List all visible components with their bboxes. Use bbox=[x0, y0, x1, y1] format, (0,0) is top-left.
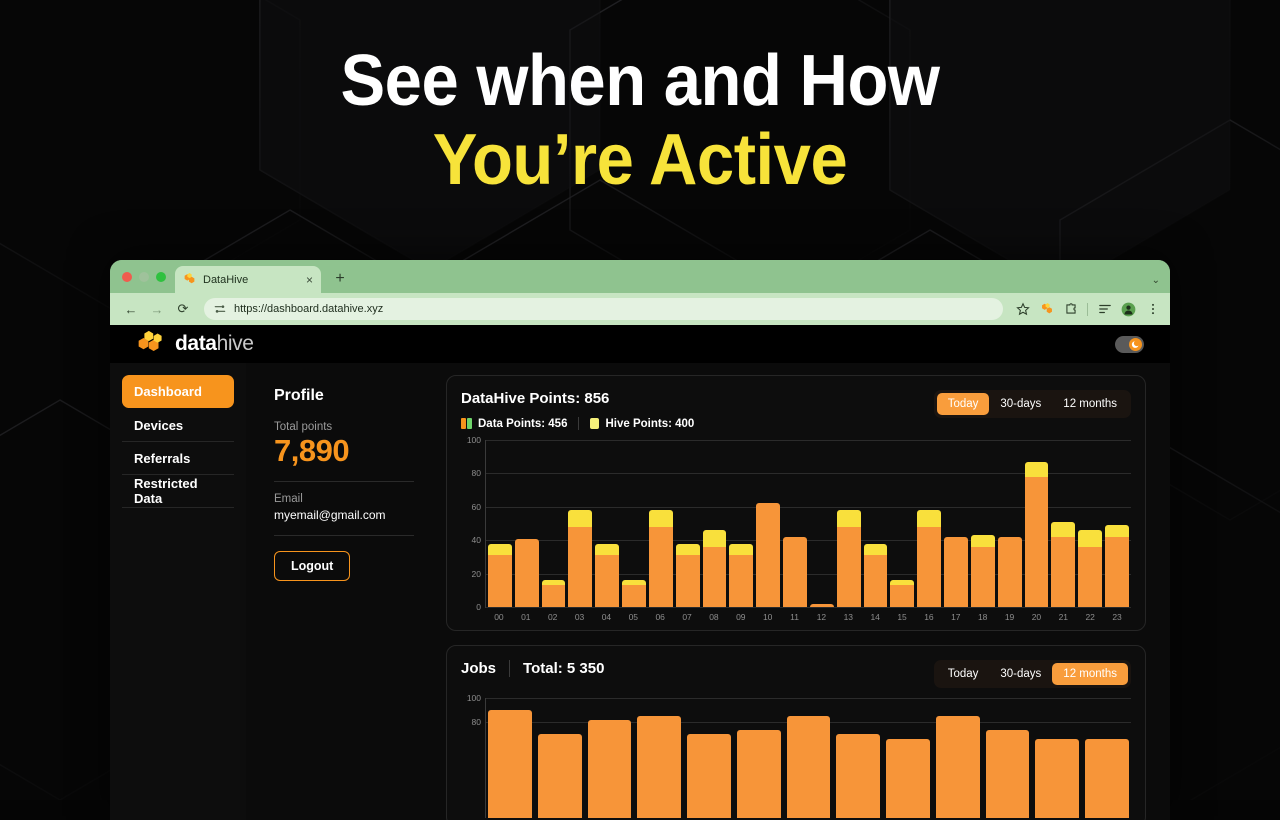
x-axis-tick: 03 bbox=[568, 612, 592, 622]
chart-bar[interactable] bbox=[538, 734, 582, 818]
site-settings-icon[interactable] bbox=[213, 302, 227, 316]
y-axis-tick: 0 bbox=[476, 602, 481, 612]
sidebar-item-dashboard[interactable]: Dashboard bbox=[122, 375, 234, 408]
chart-bar[interactable] bbox=[737, 730, 781, 818]
y-axis-tick: 20 bbox=[472, 569, 481, 579]
chart-bar[interactable] bbox=[488, 544, 512, 607]
x-axis-tick: 06 bbox=[648, 612, 672, 622]
jobs-range-selector: Today 30-days 12 months bbox=[934, 660, 1131, 688]
bar-segment-bottom bbox=[1105, 537, 1129, 607]
bar-segment-bottom bbox=[729, 555, 753, 607]
bar-fill bbox=[737, 730, 781, 818]
sidebar-item-devices[interactable]: Devices bbox=[122, 409, 234, 442]
theme-toggle[interactable] bbox=[1115, 336, 1144, 353]
legend-label: Data Points: 456 bbox=[478, 418, 567, 430]
x-axis-tick: 11 bbox=[783, 612, 807, 622]
bar-segment-top bbox=[864, 544, 888, 556]
brand-wordmark: datahive bbox=[175, 332, 254, 356]
sidebar: Dashboard Devices Referrals Restricted D… bbox=[110, 363, 246, 820]
bar-segment-top bbox=[729, 544, 753, 556]
jobs-range-30-days[interactable]: 30-days bbox=[989, 663, 1052, 685]
jobs-card-title: Jobs bbox=[461, 660, 496, 677]
chart-bar[interactable] bbox=[676, 544, 700, 607]
chart-bar[interactable] bbox=[703, 530, 727, 607]
x-axis-tick: 19 bbox=[998, 612, 1022, 622]
chart-bar[interactable] bbox=[1078, 530, 1102, 607]
jobs-range-today[interactable]: Today bbox=[937, 663, 990, 685]
sidebar-item-label: Devices bbox=[134, 418, 183, 433]
sidebar-item-referrals[interactable]: Referrals bbox=[122, 442, 234, 475]
legend-swatch-data-points-icon bbox=[461, 418, 472, 429]
bar-segment-top bbox=[703, 530, 727, 547]
y-axis-tick: 100 bbox=[467, 693, 481, 703]
bar-segment-top bbox=[676, 544, 700, 556]
bar-segment-top bbox=[971, 535, 995, 547]
bar-segment-bottom bbox=[703, 547, 727, 607]
bar-fill bbox=[687, 734, 731, 818]
brand-logo[interactable]: datahive bbox=[136, 328, 254, 360]
x-axis-tick: 15 bbox=[890, 612, 914, 622]
x-axis-tick: 08 bbox=[702, 612, 726, 622]
bar-segment-bottom bbox=[1078, 547, 1102, 607]
points-range-12-months[interactable]: 12 months bbox=[1052, 393, 1128, 415]
points-chart-legend: Data Points: 456 Hive Points: 400 bbox=[461, 417, 694, 430]
bar-fill bbox=[836, 734, 880, 818]
chart-bar[interactable] bbox=[837, 510, 861, 607]
window-traffic-lights bbox=[120, 272, 175, 293]
chart-bar[interactable] bbox=[971, 535, 995, 607]
close-tab-button[interactable]: × bbox=[306, 274, 313, 286]
bar-fill bbox=[588, 720, 632, 818]
profile-panel: Profile Total points 7,890 Email myemail… bbox=[246, 363, 436, 820]
bar-segment-bottom bbox=[515, 539, 539, 607]
bar-segment-bottom bbox=[917, 527, 941, 607]
legend-label: Hive Points: 400 bbox=[605, 418, 694, 430]
address-bar-url: https://dashboard.datahive.xyz bbox=[234, 303, 383, 315]
bar-fill bbox=[1035, 739, 1079, 818]
bar-fill bbox=[538, 734, 582, 818]
x-axis-tick: 13 bbox=[836, 612, 860, 622]
points-chart-plot bbox=[485, 440, 1131, 607]
chart-bar[interactable] bbox=[637, 716, 681, 818]
bar-segment-bottom bbox=[971, 547, 995, 607]
browser-tab-title: DataHive bbox=[203, 274, 299, 286]
main-content: Profile Total points 7,890 Email myemail… bbox=[246, 363, 1170, 820]
x-axis-tick: 07 bbox=[675, 612, 699, 622]
bar-fill bbox=[637, 716, 681, 818]
sidebar-item-label: Restricted Data bbox=[134, 476, 222, 506]
total-points-value: 7,890 bbox=[274, 434, 414, 468]
bar-group bbox=[486, 440, 1131, 607]
bar-segment-bottom bbox=[1025, 477, 1049, 607]
chart-bar[interactable] bbox=[488, 710, 532, 818]
bar-segment-bottom bbox=[864, 555, 888, 607]
bar-segment-bottom bbox=[890, 585, 914, 607]
points-chart: 020406080100 bbox=[461, 440, 1131, 607]
theme-toggle-knob bbox=[1129, 338, 1142, 351]
bar-segment-top bbox=[1078, 530, 1102, 547]
bar-segment-bottom bbox=[622, 585, 646, 607]
chart-bar[interactable] bbox=[588, 720, 632, 818]
x-axis-tick: 18 bbox=[971, 612, 995, 622]
chart-bar[interactable] bbox=[1025, 462, 1049, 607]
chart-bar[interactable] bbox=[515, 539, 539, 607]
bar-segment-top bbox=[1025, 462, 1049, 477]
legend-swatch-hive-points-icon bbox=[590, 418, 599, 429]
x-axis-tick: 20 bbox=[1025, 612, 1049, 622]
points-range-today[interactable]: Today bbox=[937, 393, 990, 415]
jobs-title-divider bbox=[509, 660, 510, 677]
points-chart-y-axis: 020406080100 bbox=[461, 440, 485, 607]
jobs-chart: 80100 bbox=[461, 698, 1131, 818]
chart-bar[interactable] bbox=[986, 730, 1030, 818]
chart-bar[interactable] bbox=[998, 537, 1022, 607]
points-card-header: DataHive Points: 856 Data Points: 456 bbox=[461, 390, 1131, 430]
x-axis-tick: 22 bbox=[1078, 612, 1102, 622]
chart-bar[interactable] bbox=[649, 510, 673, 607]
chart-bar[interactable] bbox=[568, 510, 592, 607]
bar-segment-bottom bbox=[998, 537, 1022, 607]
chart-bar[interactable] bbox=[595, 544, 619, 607]
jobs-range-12-months[interactable]: 12 months bbox=[1052, 663, 1128, 685]
x-axis-tick: 14 bbox=[863, 612, 887, 622]
jobs-chart-plot bbox=[485, 698, 1131, 818]
chart-bar[interactable] bbox=[687, 734, 731, 818]
y-axis-tick: 40 bbox=[472, 535, 481, 545]
x-axis-tick: 23 bbox=[1105, 612, 1129, 622]
chart-bar[interactable] bbox=[622, 580, 646, 607]
datahive-app: datahive Dashboard Devices Referrals bbox=[110, 325, 1170, 820]
legend-divider bbox=[578, 417, 579, 430]
minimize-window-button[interactable] bbox=[139, 272, 149, 282]
bar-fill bbox=[986, 730, 1030, 818]
x-axis-tick: 21 bbox=[1051, 612, 1075, 622]
maximize-window-button[interactable] bbox=[156, 272, 166, 282]
chart-bar[interactable] bbox=[864, 544, 888, 607]
x-axis-tick: 05 bbox=[621, 612, 645, 622]
bar-segment-top bbox=[1105, 525, 1129, 537]
chart-bar[interactable] bbox=[756, 503, 780, 607]
datahive-extension-icon[interactable] bbox=[1039, 302, 1054, 317]
browser-tab-bar: DataHive × + ⌄ bbox=[110, 260, 1170, 293]
chart-bar[interactable] bbox=[944, 537, 968, 607]
x-axis-tick: 00 bbox=[487, 612, 511, 622]
bar-fill bbox=[787, 716, 831, 818]
browser-window: DataHive × + ⌄ ← → ⟳ https://dashboard.d… bbox=[110, 260, 1170, 820]
sidebar-item-label: Dashboard bbox=[134, 384, 202, 399]
chart-bar[interactable] bbox=[1035, 739, 1079, 818]
x-axis-tick: 04 bbox=[595, 612, 619, 622]
browser-tab[interactable]: DataHive × bbox=[175, 266, 321, 293]
chart-bar[interactable] bbox=[1105, 525, 1129, 607]
points-range-30-days[interactable]: 30-days bbox=[989, 393, 1052, 415]
jobs-card: Jobs Total: 5 350 Today 30-days 12 month… bbox=[446, 645, 1146, 820]
bar-segment-top bbox=[1051, 522, 1075, 537]
tab-search-chevron-icon[interactable]: ⌄ bbox=[1152, 275, 1160, 286]
bar-segment-top bbox=[649, 510, 673, 527]
chart-bar[interactable] bbox=[836, 734, 880, 818]
y-axis-tick: 60 bbox=[472, 502, 481, 512]
profile-divider bbox=[274, 481, 414, 482]
chart-bar[interactable] bbox=[1051, 522, 1075, 607]
tab-list-icon[interactable] bbox=[1097, 302, 1112, 317]
forward-button[interactable]: → bbox=[146, 298, 168, 320]
y-axis-tick: 80 bbox=[472, 717, 481, 727]
chart-bar[interactable] bbox=[886, 739, 930, 818]
cards-column: DataHive Points: 856 Data Points: 456 bbox=[436, 363, 1170, 820]
y-axis-tick: 100 bbox=[467, 435, 481, 445]
logout-button[interactable]: Logout bbox=[274, 551, 350, 581]
bar-segment-bottom bbox=[756, 503, 780, 607]
profile-heading: Profile bbox=[274, 387, 414, 405]
address-bar[interactable]: https://dashboard.datahive.xyz bbox=[204, 298, 1003, 320]
browser-menu-icon[interactable] bbox=[1145, 302, 1160, 317]
points-range-selector: Today 30-days 12 months bbox=[934, 390, 1131, 418]
bar-fill bbox=[936, 716, 980, 818]
bar-segment-bottom bbox=[649, 527, 673, 607]
sidebar-item-restricted-data[interactable]: Restricted Data bbox=[122, 475, 234, 508]
brand-wordmark-light: hive bbox=[217, 332, 254, 355]
chart-bar[interactable] bbox=[542, 580, 566, 607]
toolbar-divider bbox=[1087, 303, 1088, 316]
datahive-hex-logo-icon bbox=[136, 328, 166, 360]
sidebar-item-label: Referrals bbox=[134, 451, 190, 466]
bar-segment-top bbox=[488, 544, 512, 556]
bar-segment-bottom bbox=[810, 604, 834, 607]
x-axis-tick: 16 bbox=[917, 612, 941, 622]
x-axis-tick: 12 bbox=[810, 612, 834, 622]
back-button[interactable]: ← bbox=[120, 298, 142, 320]
chart-bar[interactable] bbox=[729, 544, 753, 607]
x-axis-tick: 01 bbox=[514, 612, 538, 622]
browser-toolbar: ← → ⟳ https://dashboard.datahive.xyz bbox=[110, 293, 1170, 325]
bar-segment-bottom bbox=[837, 527, 861, 607]
chart-bar[interactable] bbox=[783, 537, 807, 607]
points-card-title: DataHive Points: 856 bbox=[461, 390, 694, 407]
bar-segment-bottom bbox=[488, 555, 512, 607]
datahive-favicon-icon bbox=[183, 273, 196, 286]
jobs-card-total: Total: 5 350 bbox=[523, 660, 604, 677]
jobs-card-header: Jobs Total: 5 350 Today 30-days 12 month… bbox=[461, 660, 1131, 688]
legend-item-hive-points: Hive Points: 400 bbox=[590, 418, 694, 430]
total-points-label: Total points bbox=[274, 421, 414, 433]
bar-fill bbox=[886, 739, 930, 818]
chart-bar[interactable] bbox=[890, 580, 914, 607]
extensions-puzzle-icon[interactable] bbox=[1063, 302, 1078, 317]
bar-segment-bottom bbox=[676, 555, 700, 607]
profile-avatar-icon[interactable] bbox=[1121, 302, 1136, 317]
legend-item-data-points: Data Points: 456 bbox=[461, 418, 567, 430]
app-body: Dashboard Devices Referrals Restricted D… bbox=[110, 363, 1170, 820]
app-header: datahive bbox=[110, 325, 1170, 363]
toolbar-icon-group bbox=[1007, 302, 1160, 317]
email-value: myemail@gmail.com bbox=[274, 508, 414, 522]
chart-bar[interactable] bbox=[810, 604, 834, 607]
bar-segment-top bbox=[568, 510, 592, 527]
reload-button[interactable]: ⟳ bbox=[172, 298, 194, 320]
bar-segment-top bbox=[837, 510, 861, 527]
gridline bbox=[486, 607, 1131, 608]
bar-segment-top bbox=[595, 544, 619, 556]
profile-divider-2 bbox=[274, 535, 414, 536]
bar-segment-bottom bbox=[1051, 537, 1075, 607]
bar-group bbox=[486, 698, 1131, 818]
bar-fill bbox=[488, 710, 532, 818]
email-label: Email bbox=[274, 493, 414, 505]
brand-wordmark-strong: data bbox=[175, 332, 217, 355]
new-tab-button[interactable]: + bbox=[327, 266, 353, 292]
bar-segment-top bbox=[917, 510, 941, 527]
bar-segment-bottom bbox=[595, 555, 619, 607]
close-window-button[interactable] bbox=[122, 272, 132, 282]
chart-bar[interactable] bbox=[917, 510, 941, 607]
x-axis-tick: 17 bbox=[944, 612, 968, 622]
points-chart-x-axis: 0001020304050607080910111213141516171819… bbox=[485, 607, 1131, 622]
chart-bar[interactable] bbox=[936, 716, 980, 818]
bar-segment-bottom bbox=[568, 527, 592, 607]
jobs-chart-y-axis: 80100 bbox=[461, 698, 485, 818]
bar-segment-bottom bbox=[944, 537, 968, 607]
bar-segment-bottom bbox=[783, 537, 807, 607]
x-axis-tick: 10 bbox=[756, 612, 780, 622]
bookmark-star-icon[interactable] bbox=[1015, 302, 1030, 317]
chart-bar[interactable] bbox=[1085, 739, 1129, 818]
bar-fill bbox=[1085, 739, 1129, 818]
bar-segment-bottom bbox=[542, 585, 566, 607]
y-axis-tick: 80 bbox=[472, 468, 481, 478]
datahive-points-card: DataHive Points: 856 Data Points: 456 bbox=[446, 375, 1146, 631]
x-axis-tick: 02 bbox=[541, 612, 565, 622]
chart-bar[interactable] bbox=[787, 716, 831, 818]
x-axis-tick: 09 bbox=[729, 612, 753, 622]
